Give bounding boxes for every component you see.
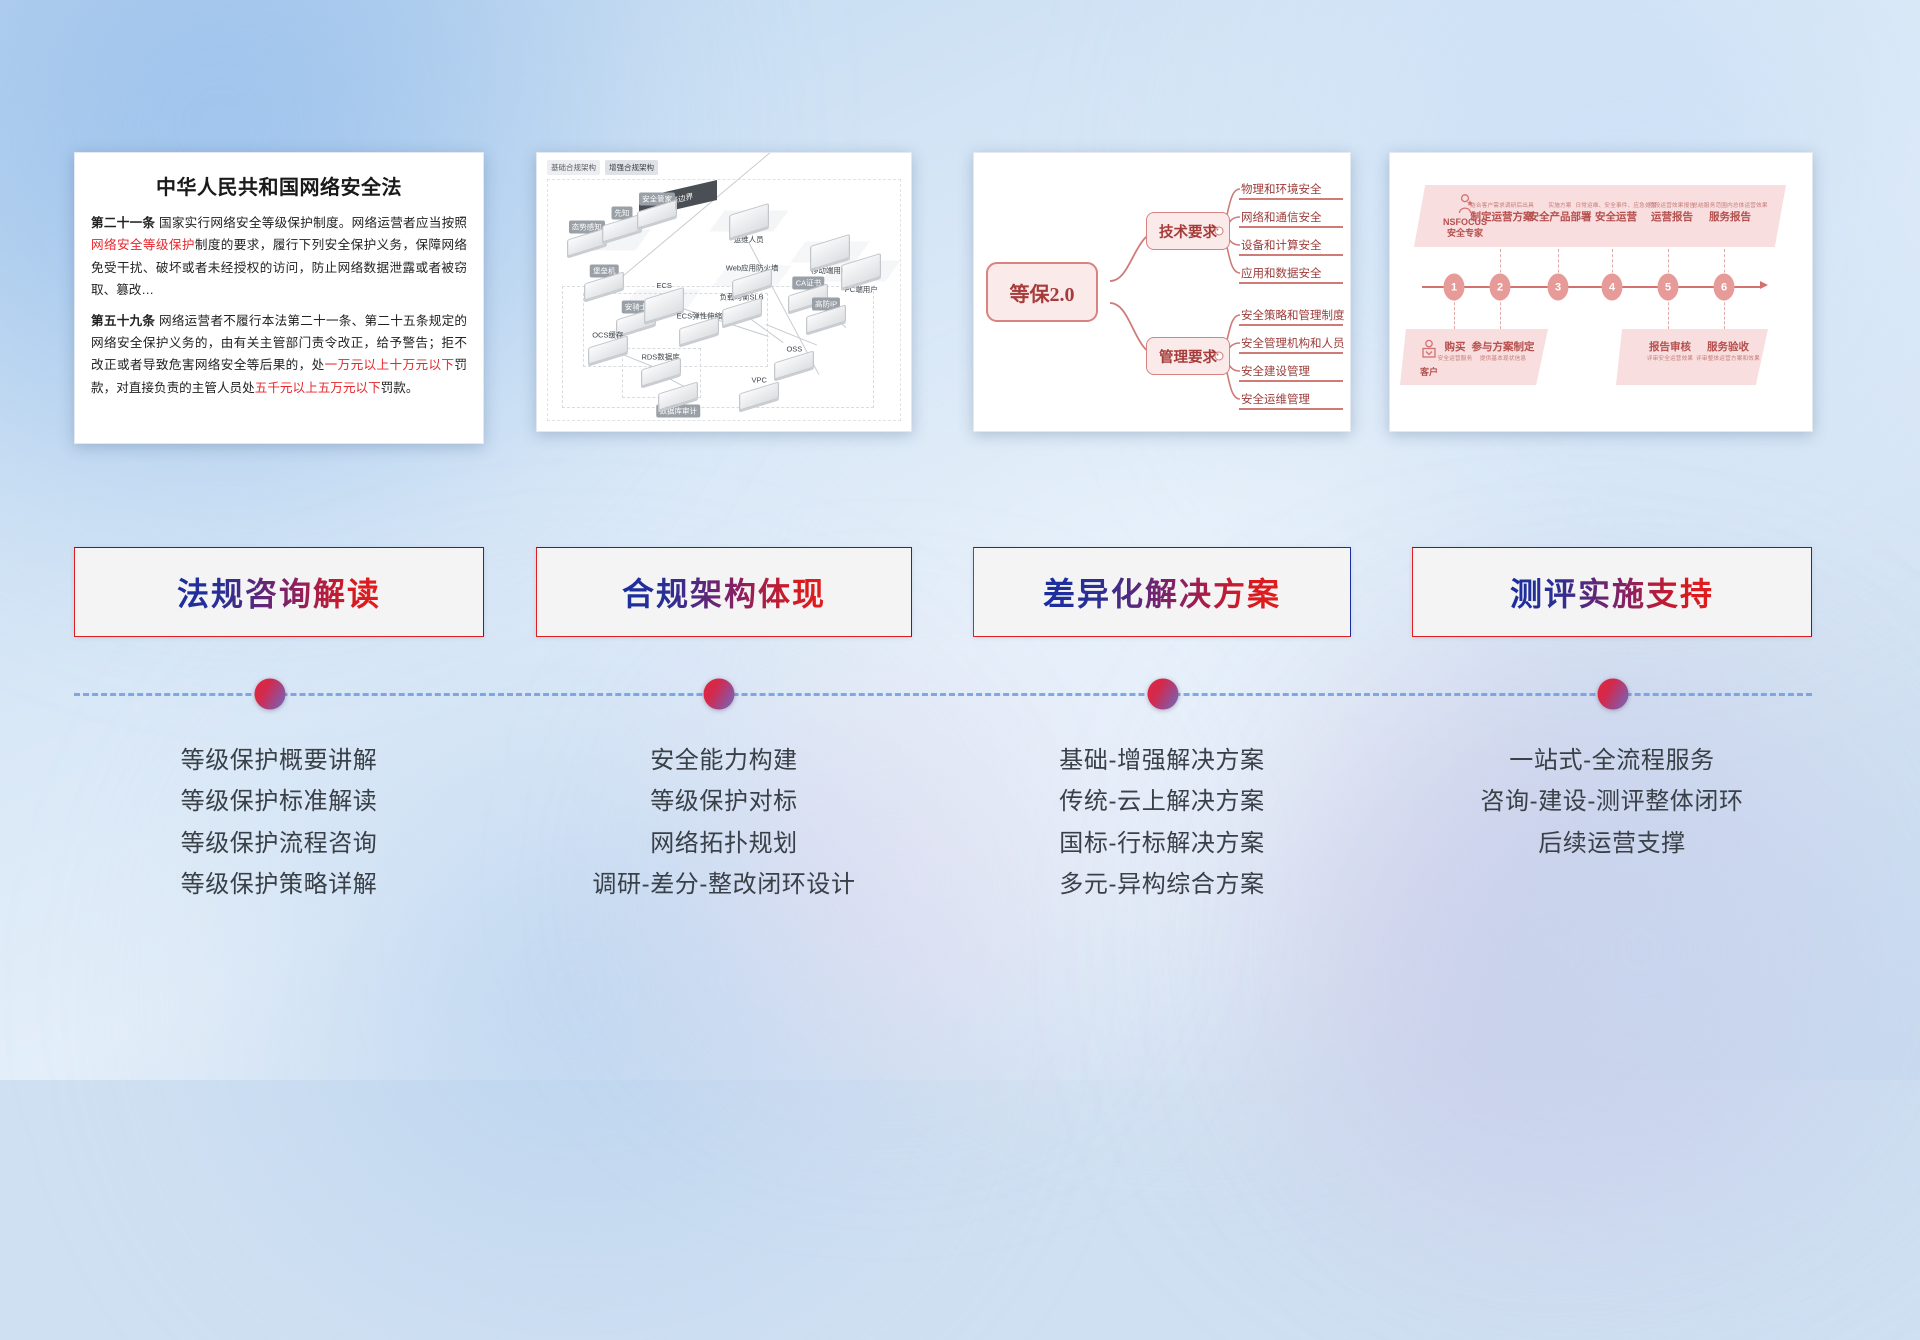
- timeline-dot-4[interactable]: [1598, 679, 1629, 710]
- law-run-highlight: 五千元以上五万元以下: [255, 381, 381, 395]
- law-body: 中华人民共和国网络安全法 第二十一条 国家实行网络安全等级保护制度。网络运营者应…: [75, 153, 483, 443]
- collapse-toggle-icon[interactable]: [1215, 227, 1224, 236]
- timeline-dot-3[interactable]: [1148, 679, 1179, 710]
- flow-step-label: 日常运维、安全事件、应急处置 安全运营: [1575, 201, 1656, 224]
- arch-node[interactable]: Web应用防火墙: [736, 275, 768, 292]
- leaf-underline: [1239, 324, 1343, 326]
- law-article-label: 第二十一条: [91, 216, 155, 230]
- list-regulation-consulting: 等级保护概要讲解 等级保护标准解读 等级保护流程咨询 等级保护策略详解: [74, 740, 484, 905]
- list-item: 后续运营支撑: [1412, 823, 1812, 864]
- flow-step-title: 运营报告: [1649, 209, 1695, 224]
- flow-step-sub: 阶段运营效果报告: [1649, 201, 1695, 209]
- arch-node-label: ECS: [653, 280, 674, 291]
- leaf-underline: [1239, 226, 1343, 228]
- law-run: 罚款。: [381, 381, 419, 395]
- banner-label: 测评实施支持: [1510, 569, 1714, 615]
- arch-node[interactable]: 运维人员: [733, 209, 765, 233]
- nsfocus-service-flow-card[interactable]: NSFOCUS 安全专家 客户: [1389, 152, 1813, 432]
- banner-label: 差异化解决方案: [1043, 569, 1281, 615]
- flow-axis-line: [1422, 286, 1762, 288]
- law-article-label: 第五十九条: [91, 314, 155, 328]
- flow-step-title: 参与方案制定: [1472, 339, 1535, 354]
- arch-node[interactable]: OSS: [778, 356, 810, 373]
- law-run: 国家实行网络安全等级保护制度。网络运营者应当按照: [155, 216, 467, 230]
- list-differentiated-solution: 基础-增强解决方案 传统-云上解决方案 国标-行标解决方案 多元-异构综合方案: [973, 740, 1351, 905]
- arch-node-label: OSS: [783, 343, 805, 354]
- architecture-canvas: 网络边界 态势感知 先知 安全管家 堡垒机 安骑士 OCS缓存 RDS数据库 数…: [547, 179, 901, 421]
- arch-node[interactable]: OCS缓存: [592, 342, 624, 359]
- service-flow-diagram: NSFOCUS 安全专家 客户: [1390, 153, 1812, 431]
- list-compliance-architecture: 安全能力构建 等级保护对标 网络拓扑规划 调研-差分-整改闭环设计: [536, 740, 912, 905]
- law-paragraph-21: 第二十一条 国家实行网络安全等级保护制度。网络运营者应当按照网络安全等级保护制度…: [91, 212, 467, 302]
- list-item: 调研-差分-整改闭环设计: [536, 864, 912, 905]
- law-paragraph-59: 第五十九条 网络运营者不履行本法第二十一条、第二十五条规定的网络安全保护义务的，…: [91, 310, 467, 400]
- list-item: 等级保护策略详解: [74, 864, 484, 905]
- arch-node[interactable]: VPC: [743, 388, 775, 405]
- list-item: 等级保护标准解读: [74, 781, 484, 822]
- flow-step-label: 阶段运营效果报告 运营报告: [1649, 201, 1695, 224]
- banner-assessment-support[interactable]: 测评实施支持: [1412, 547, 1812, 637]
- law-run-highlight: 网络安全等级保护: [91, 238, 195, 252]
- banner-label: 合规架构体现: [622, 569, 826, 615]
- flow-step-title: 服务报告: [1692, 209, 1767, 224]
- arch-node[interactable]: 数据库审计: [662, 388, 694, 405]
- list-item: 一站式-全流程服务: [1412, 740, 1812, 781]
- arch-node[interactable]: 安全管家: [641, 205, 673, 222]
- flow-step-title: 报告审核: [1647, 339, 1693, 354]
- flow-step-sub: 提供基本现状信息: [1472, 354, 1535, 362]
- arch-node[interactable]: 移动端用户: [814, 240, 846, 264]
- flow-step-dot[interactable]: 4: [1602, 274, 1623, 301]
- arch-node[interactable]: ECS弹性伸缩: [683, 323, 715, 340]
- list-item: 网络拓扑规划: [536, 823, 912, 864]
- leaf-underline: [1239, 352, 1343, 354]
- flow-step-sub: 总结服务范围内总体运营效果: [1692, 201, 1767, 209]
- flow-step-label: 参与方案制定 提供基本现状信息: [1472, 339, 1535, 362]
- flow-step-title: 制定运营方案: [1470, 209, 1534, 224]
- leaf-underline: [1239, 408, 1343, 410]
- list-item: 等级保护对标: [536, 781, 912, 822]
- list-item: 等级保护流程咨询: [74, 823, 484, 864]
- thumbnail-row: 中华人民共和国网络安全法 第二十一条 国家实行网络安全等级保护制度。网络运营者应…: [0, 152, 1920, 452]
- flow-axis-arrow-icon: [1760, 281, 1768, 289]
- mindmap-leaf[interactable]: 安全运维管理: [1241, 391, 1310, 407]
- flow-step-sub: 评审安全运营效果: [1647, 354, 1693, 362]
- flow-step-label: 报告审核 评审安全运营效果: [1647, 339, 1693, 362]
- dengbao-mindmap-card[interactable]: 等保2.0 技术要求 管理要求 物理和环境安全 网络和通信安全 设备和计算安全 …: [973, 152, 1351, 432]
- flow-step-label: 总结服务范围内总体运营效果 服务报告: [1692, 201, 1767, 224]
- flow-step-title: 购买: [1438, 339, 1473, 354]
- flow-step-title: 服务验收: [1696, 339, 1760, 354]
- banner-compliance-architecture[interactable]: 合规架构体现: [536, 547, 912, 637]
- flow-step-dot[interactable]: 2: [1490, 274, 1511, 301]
- nsfocus-expert-title: 安全专家: [1428, 228, 1502, 239]
- flow-step-sub: 评审整体运营方案和效果: [1696, 354, 1760, 362]
- mindmap-leaf[interactable]: 物理和环境安全: [1241, 181, 1322, 197]
- mindmap: 等保2.0 技术要求 管理要求 物理和环境安全 网络和通信安全 设备和计算安全 …: [974, 153, 1350, 431]
- leaf-underline: [1239, 198, 1343, 200]
- flow-step-sub: 结合客户需求调研后出具: [1470, 201, 1534, 209]
- leaf-underline: [1239, 254, 1343, 256]
- architecture-diagram: 基础合规架构 增强合规架构: [537, 153, 911, 431]
- timeline-dot-1[interactable]: [255, 679, 286, 710]
- collapse-toggle-icon[interactable]: [1215, 352, 1224, 361]
- arch-node-label: Web应用防火墙: [723, 262, 782, 275]
- timeline-dashed-line: [74, 693, 1812, 696]
- tab-basic-compliance[interactable]: 基础合规架构: [547, 160, 600, 175]
- flow-step-sub: 日常运维、安全事件、应急处置: [1575, 201, 1656, 209]
- mindmap-root[interactable]: 等保2.0: [986, 262, 1098, 322]
- cybersecurity-law-card[interactable]: 中华人民共和国网络安全法 第二十一条 国家实行网络安全等级保护制度。网络运营者应…: [74, 152, 484, 444]
- law-run-highlight: 一万元以上十万元以下: [325, 358, 455, 372]
- law-title: 中华人民共和国网络安全法: [91, 171, 467, 200]
- flow-step-dot[interactable]: 1: [1444, 274, 1465, 301]
- banner-label: 法规咨询解读: [177, 569, 381, 615]
- flow-step-label: 服务验收 评审整体运营方案和效果: [1696, 339, 1760, 362]
- arch-node[interactable]: 高防IP: [810, 311, 842, 328]
- customer-person-icon: [1419, 339, 1439, 363]
- mindmap-leaf[interactable]: 安全策略和管理制度: [1241, 307, 1345, 323]
- arch-node[interactable]: 态势感知: [571, 234, 603, 251]
- arch-node-label: VPC: [748, 375, 769, 386]
- flow-step-dot[interactable]: 6: [1714, 274, 1735, 301]
- timeline-dot-2[interactable]: [704, 679, 735, 710]
- flow-step-title: 安全运营: [1575, 209, 1656, 224]
- list-item: 咨询-建设-测评整体闭环: [1412, 781, 1812, 822]
- cloud-architecture-card[interactable]: 基础合规架构 增强合规架构: [536, 152, 912, 432]
- arch-node[interactable]: 先知: [606, 220, 638, 237]
- flow-step-dot[interactable]: 5: [1658, 274, 1679, 301]
- leaf-underline: [1239, 380, 1343, 382]
- arch-node[interactable]: 堡垒机: [588, 277, 620, 294]
- flow-step-dot[interactable]: 3: [1548, 274, 1569, 301]
- mindmap-leaf[interactable]: 应用和数据安全: [1241, 265, 1322, 281]
- list-item: 安全能力构建: [536, 740, 912, 781]
- arch-node[interactable]: RDS数据库: [645, 364, 677, 381]
- mindmap-leaf[interactable]: 安全建设管理: [1241, 363, 1310, 379]
- arch-node[interactable]: 负载均衡SLB: [726, 304, 758, 321]
- flow-step-label: 结合客户需求调研后出具 制定运营方案: [1470, 201, 1534, 224]
- mindmap-leaf[interactable]: 安全管理机构和人员: [1241, 335, 1345, 351]
- list-item: 国标-行标解决方案: [973, 823, 1351, 864]
- banner-regulation-consulting[interactable]: 法规咨询解读: [74, 547, 484, 637]
- mindmap-leaf[interactable]: 网络和通信安全: [1241, 209, 1322, 225]
- tab-enhanced-compliance[interactable]: 增强合规架构: [605, 160, 658, 175]
- flow-step-label: 购买 安全运营服务: [1438, 339, 1473, 362]
- customer-title: 客户: [1408, 365, 1450, 378]
- list-item: 等级保护概要讲解: [74, 740, 484, 781]
- arch-node[interactable]: PC端用户: [845, 259, 877, 283]
- leaf-underline: [1239, 282, 1343, 284]
- list-item: 传统-云上解决方案: [973, 781, 1351, 822]
- mindmap-leaf[interactable]: 设备和计算安全: [1241, 237, 1322, 253]
- list-item: 多元-异构综合方案: [973, 864, 1351, 905]
- architecture-tab-strip[interactable]: 基础合规架构 增强合规架构: [547, 160, 658, 175]
- banner-differentiated-solution[interactable]: 差异化解决方案: [973, 547, 1351, 637]
- list-item: 基础-增强解决方案: [973, 740, 1351, 781]
- list-assessment-support: 一站式-全流程服务 咨询-建设-测评整体闭环 后续运营支撑: [1412, 740, 1812, 864]
- slide-stage: 中华人民共和国网络安全法 第二十一条 国家实行网络安全等级保护制度。网络运营者应…: [0, 0, 1920, 1080]
- flow-step-sub: 安全运营服务: [1438, 354, 1473, 362]
